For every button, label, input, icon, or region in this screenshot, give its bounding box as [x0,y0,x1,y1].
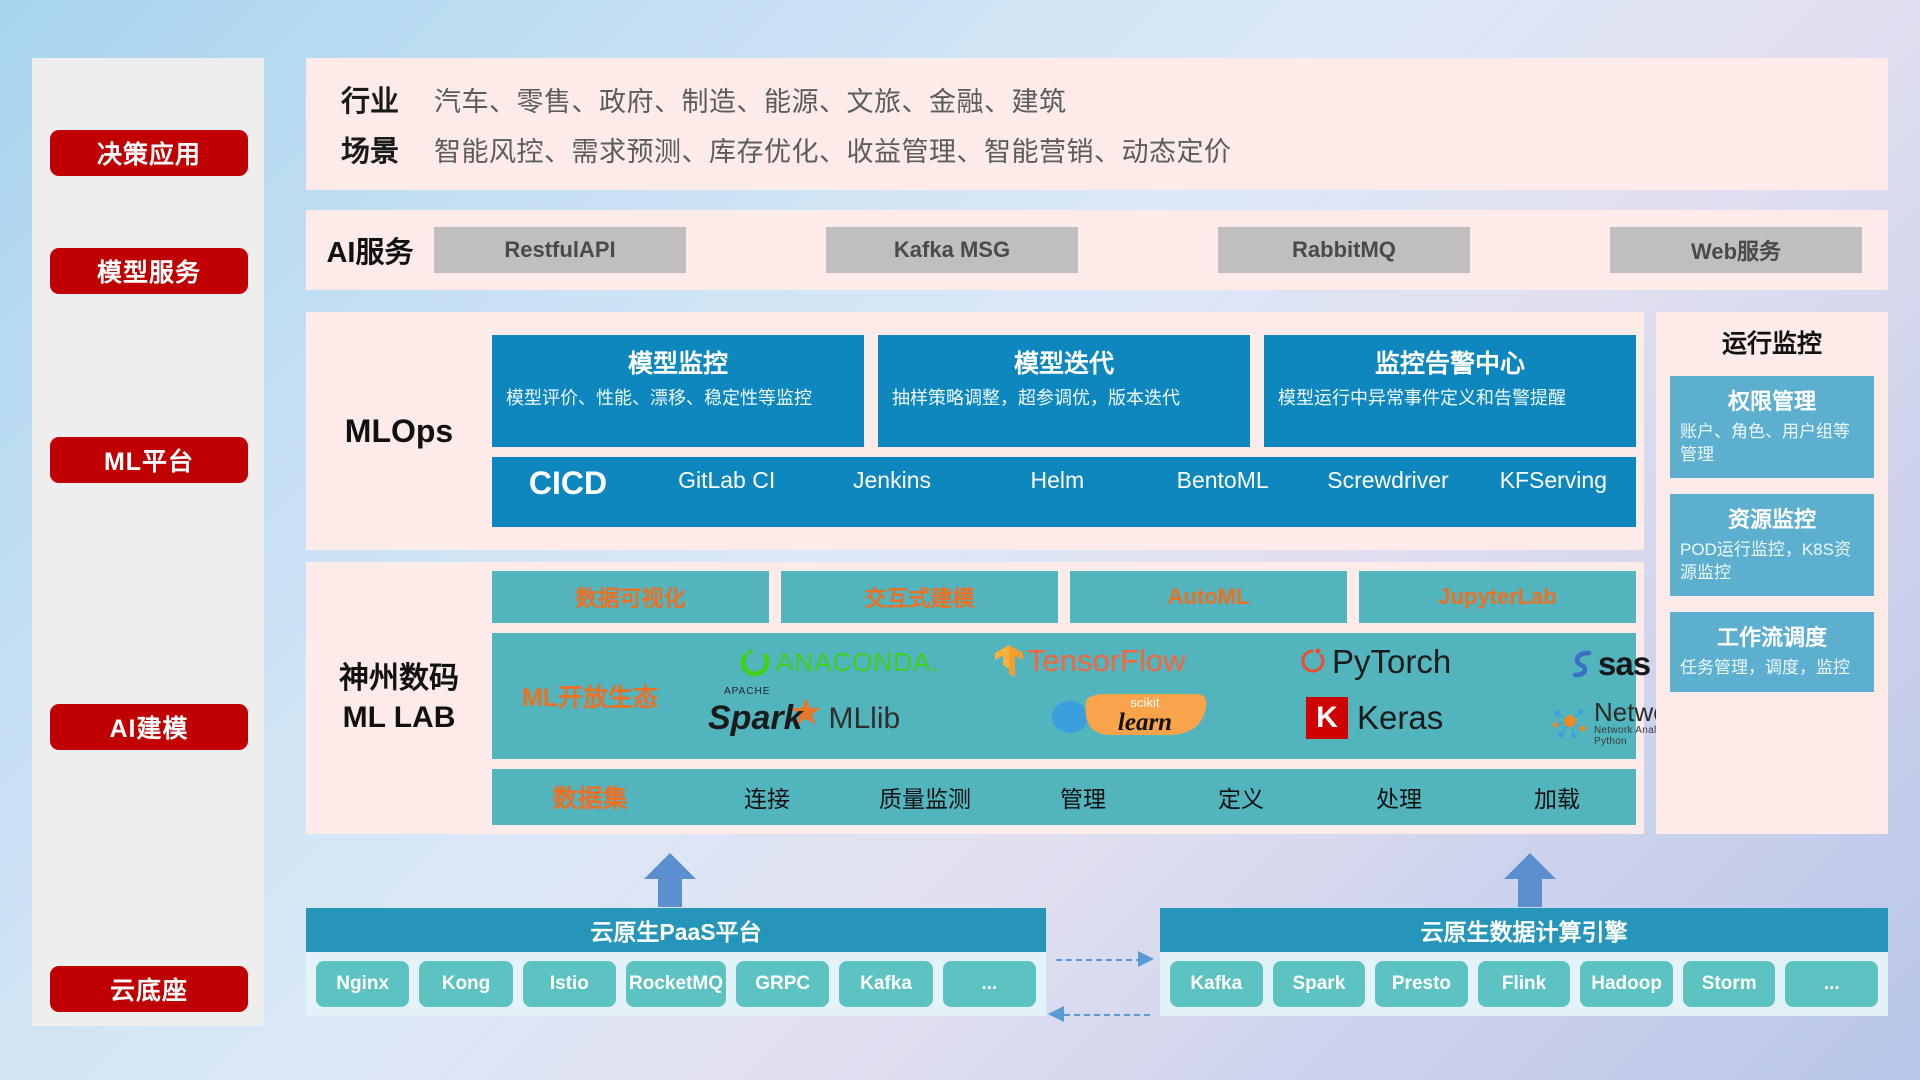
dashed-connector-right [1056,959,1142,961]
layer-sidebar: 决策应用 模型服务 ML平台 AI建模 云底座 [32,58,264,1026]
dashed-arrow-right-icon [1138,951,1158,969]
service-chip-restfulapi[interactable]: RestfulAPI [434,227,686,273]
industry-row: 行业 汽车、零售、政府、制造、能源、文旅、金融、建筑 [306,74,1888,124]
dataset-item-quality-monitor[interactable]: 质量监测 [846,780,1004,814]
mlops-card-list: 模型监控 模型评价、性能、漂移、稳定性等监控 模型迭代 抽样策略调整，超参调优，… [492,335,1636,447]
cloud-chip-presto[interactable]: Presto [1375,961,1468,1007]
monitor-card-resource[interactable]: 资源监控 POD运行监控，K8S资源监控 [1670,494,1874,596]
scenario-values: 智能风控、需求预测、库存优化、收益管理、智能营销、动态定价 [434,130,1232,169]
service-chip-web[interactable]: Web服务 [1610,227,1862,273]
keras-logo: K Keras [1306,697,1443,739]
dataset-row: 数据集 连接 质量监测 管理 定义 处理 加载 [492,769,1636,825]
cloud-engine-block: 云原生数据计算引擎 Kafka Spark Presto Flink Hadoo… [1160,908,1888,1016]
card-desc: 抽样策略调整，超参调优，版本迭代 [892,387,1236,411]
mlops-panel: MLOps 模型监控 模型评价、性能、漂移、稳定性等监控 模型迭代 抽样策略调整… [306,312,1644,550]
card-title: 模型迭代 [892,344,1236,380]
decision-apps-panel: 行业 汽车、零售、政府、制造、能源、文旅、金融、建筑 场景 智能风控、需求预测、… [306,58,1888,190]
ml-lab-title-line1: 神州数码 [306,659,492,698]
cloud-chip-more-r[interactable]: ... [1785,961,1878,1007]
cloud-chip-kong[interactable]: Kong [419,961,512,1007]
mllib-wordmark: MLlib [829,702,901,736]
cicd-item-bentoml[interactable]: BentoML [1140,467,1305,493]
sidebar-item-ml-platform[interactable]: ML平台 [50,437,248,483]
cloud-paas-chip-list: Nginx Kong Istio RocketMQ GRPC Kafka ... [306,952,1046,1016]
anaconda-mark [738,645,772,679]
cloud-paas-title: 云原生PaaS平台 [306,908,1046,952]
cloud-engine-title: 云原生数据计算引擎 [1160,908,1888,952]
tensorflow-wordmark: TensorFlow [1027,643,1186,679]
scenario-row: 场景 智能风控、需求预测、库存优化、收益管理、智能营销、动态定价 [306,124,1888,174]
anaconda-wordmark: ANACONDA. [776,647,940,678]
arrow-up-paas-icon [642,853,698,907]
cicd-item-screwdriver[interactable]: Screwdriver [1305,467,1470,493]
cloud-chip-hadoop[interactable]: Hadoop [1580,961,1673,1007]
keras-mark-letter: K [1316,701,1338,735]
cicd-bar: CICD GitLab CI Jenkins Helm BentoML Scre… [492,457,1636,527]
mlops-card-alert-center[interactable]: 监控告警中心 模型运行中异常事件定义和告警提醒 [1264,335,1636,447]
mlops-title: MLOps [306,413,492,450]
cicd-item-kfserving[interactable]: KFServing [1471,467,1636,493]
sidebar-item-model-service[interactable]: 模型服务 [50,248,248,294]
cloud-engine-chip-list: Kafka Spark Presto Flink Hadoop Storm ..… [1160,952,1888,1016]
feature-chip-interactive-modeling[interactable]: 交互式建模 [781,571,1058,623]
sidebar-item-label: ML平台 [104,442,194,478]
cloud-chip-kafka-r[interactable]: Kafka [1170,961,1263,1007]
cloud-chip-more[interactable]: ... [943,961,1036,1007]
cicd-label: CICD [492,467,644,499]
card-title: 监控告警中心 [1278,344,1622,380]
cloud-chip-spark[interactable]: Spark [1273,961,1366,1007]
sidebar-item-decision-apps[interactable]: 决策应用 [50,130,248,176]
card-title: 模型监控 [506,344,850,380]
run-monitoring-panel: 运行监控 权限管理 账户、角色、用户组等管理 资源监控 POD运行监控，K8S资… [1656,312,1888,834]
keras-wordmark: Keras [1357,699,1443,737]
dataset-item-process[interactable]: 处理 [1320,780,1478,814]
spark-mllib-logo: APACHE Spark MLlib [708,699,900,738]
scikit-top-word: scikit [1080,696,1210,709]
cicd-item-jenkins[interactable]: Jenkins [809,467,974,493]
ml-ecosystem-logos: ANACONDA. TensorFlow [688,633,1636,759]
card-desc: 模型运行中异常事件定义和告警提醒 [1278,387,1622,411]
sas-wordmark: sas [1598,645,1650,683]
architecture-diagram: 决策应用 模型服务 ML平台 AI建模 云底座 行业 汽车、零售、政府、制造、能… [0,0,1920,1080]
scenario-label: 场景 [306,128,434,170]
card-desc: POD运行监控，K8S资源监控 [1680,539,1864,584]
sidebar-item-cloud-base[interactable]: 云底座 [50,966,248,1012]
feature-chip-data-visualization[interactable]: 数据可视化 [492,571,769,623]
monitor-card-permission[interactable]: 权限管理 账户、角色、用户组等管理 [1670,376,1874,478]
run-monitoring-title: 运行监控 [1670,324,1874,360]
dataset-item-load[interactable]: 加载 [1478,780,1636,814]
pytorch-logo: PyTorch [1298,643,1451,681]
ai-service-title: AI服务 [306,229,434,271]
tensorflow-mark [993,643,1025,679]
pytorch-wordmark: PyTorch [1332,643,1451,681]
cloud-chip-storm[interactable]: Storm [1683,961,1776,1007]
dataset-item-manage[interactable]: 管理 [1004,780,1162,814]
dataset-item-define[interactable]: 定义 [1162,780,1320,814]
cloud-chip-flink[interactable]: Flink [1478,961,1571,1007]
cicd-item-gitlab-ci[interactable]: GitLab CI [644,467,809,493]
ai-service-panel: AI服务 RestfulAPI Kafka MSG RabbitMQ Web服务 [306,210,1888,290]
card-desc: 账户、角色、用户组等管理 [1680,421,1864,466]
dashed-arrow-left-icon [1046,1006,1066,1024]
industry-values: 汽车、零售、政府、制造、能源、文旅、金融、建筑 [434,80,1067,119]
mlops-card-model-iteration[interactable]: 模型迭代 抽样策略调整，超参调优，版本迭代 [878,335,1250,447]
cicd-item-helm[interactable]: Helm [975,467,1140,493]
card-desc: 模型评价、性能、漂移、稳定性等监控 [506,387,850,411]
sidebar-item-label: AI建模 [109,709,188,745]
dataset-label: 数据集 [492,779,688,815]
keras-mark: K [1306,697,1348,739]
industry-label: 行业 [306,78,434,120]
cloud-chip-nginx[interactable]: Nginx [316,961,409,1007]
service-chip-rabbitmq[interactable]: RabbitMQ [1218,227,1470,273]
cloud-chip-kafka[interactable]: Kafka [839,961,932,1007]
anaconda-logo: ANACONDA. [738,645,940,679]
spark-wordmark: Spark [708,699,803,737]
service-chip-kafka-msg[interactable]: Kafka MSG [826,227,1078,273]
card-title: 工作流调度 [1680,620,1864,652]
cloud-chip-rocketmq[interactable]: RocketMQ [626,961,726,1007]
cloud-paas-block: 云原生PaaS平台 Nginx Kong Istio RocketMQ GRPC… [306,908,1046,1016]
scikit-bottom-word: learn [1080,709,1210,737]
tensorflow-logo: TensorFlow [993,643,1186,679]
feature-chip-jupyterlab[interactable]: JupyterLab [1359,571,1636,623]
mlops-card-model-monitoring[interactable]: 模型监控 模型评价、性能、漂移、稳定性等监控 [492,335,864,447]
sidebar-item-label: 模型服务 [97,253,201,289]
sidebar-item-label: 决策应用 [97,135,201,171]
sidebar-item-label: 云底座 [110,971,188,1007]
card-desc: 任务管理，调度，监控 [1680,657,1864,680]
sidebar-item-ai-modeling[interactable]: AI建模 [50,704,248,750]
cloud-chip-istio[interactable]: Istio [523,961,616,1007]
dashed-connector-left [1064,1014,1150,1016]
ml-ecosystem-row: ML开放生态 ANACONDA. [492,633,1636,759]
networkx-mark [1550,703,1590,743]
card-title: 资源监控 [1680,502,1864,534]
monitor-card-workflow[interactable]: 工作流调度 任务管理，调度，监控 [1670,612,1874,692]
ml-lab-panel: 神州数码 ML LAB 数据可视化 交互式建模 AutoML JupyterLa… [306,562,1644,834]
lab-feature-list: 数据可视化 交互式建模 AutoML JupyterLab [492,571,1636,623]
feature-chip-automl[interactable]: AutoML [1070,571,1347,623]
card-title: 权限管理 [1680,384,1864,416]
scikit-learn-logo: scikit learn [1048,695,1210,737]
arrow-up-engine-icon [1502,853,1558,907]
ml-lab-title-line2: ML LAB [306,698,492,737]
dataset-item-connect[interactable]: 连接 [688,780,846,814]
pytorch-mark [1298,645,1328,679]
ml-lab-title: 神州数码 ML LAB [306,659,492,737]
sas-logo: sas [1568,645,1650,683]
sas-mark [1568,648,1598,680]
ml-ecosystem-label: ML开放生态 [492,678,688,714]
ai-service-chip-list: RestfulAPI Kafka MSG RabbitMQ Web服务 [434,227,1888,273]
spark-apache-label: APACHE [724,686,770,697]
cloud-chip-grpc[interactable]: GRPC [736,961,829,1007]
